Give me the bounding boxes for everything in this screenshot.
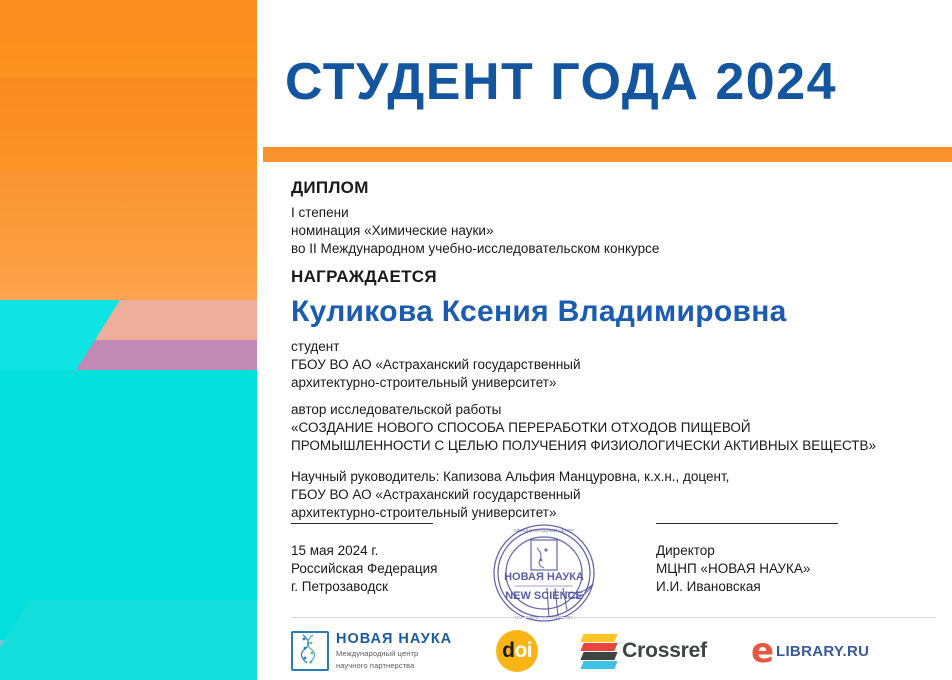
novaya-nauka-name: НОВАЯ НАУКА	[336, 632, 452, 647]
awarded-heading: НАГРАЖДАЕТСЯ	[291, 267, 936, 287]
recipient-institution-line-2: архитектурно-строительный университет»	[291, 374, 936, 392]
work-label: автор исследовательской работы	[291, 401, 936, 419]
novaya-nauka-subtitle-2: научного партнерства	[336, 661, 452, 671]
deco-stripe-orange-3	[0, 158, 263, 170]
recipient-institution-line-1: ГБОУ ВО АО «Астраханский государственный	[291, 356, 936, 374]
deco-slab-cyan-3	[0, 600, 263, 680]
page-title: СТУДЕНТ ГОДА 2024	[285, 52, 837, 112]
stamp-text-en: NEW SCIENCE	[505, 590, 583, 602]
footer-logos: НОВАЯ НАУКА Международный центр научного…	[291, 625, 936, 677]
supervisor-block: Научный руководитель: Капизова Альфия Ма…	[291, 468, 936, 522]
elibrary-name: LIBRARY.RU	[776, 643, 869, 660]
director-organization: МЦНП «НОВАЯ НАУКА»	[656, 560, 896, 578]
stamp-text-ru: НОВАЯ НАУКА	[504, 571, 584, 583]
header-accent-bar	[263, 147, 952, 162]
elibrary-logo: e LIBRARY.RU	[751, 636, 869, 666]
novaya-nauka-logo-text: НОВАЯ НАУКА Международный центр научного…	[336, 632, 452, 670]
director-role: Директор	[656, 542, 896, 560]
supervisor-line-2: ГБОУ ВО АО «Астраханский государственный	[291, 486, 936, 504]
dna-helix-icon	[291, 631, 329, 671]
signature-rule-left	[291, 523, 433, 524]
recipient-name: Куликова Ксения Владимировна	[291, 295, 936, 329]
deco-stripe-orange-2	[0, 78, 263, 158]
crossref-name: Crossref	[622, 639, 707, 663]
svg-text:МЕЖДУНАРОДНЫЙ ЦЕНТР: МЕЖДУНАРОДНЫЙ ЦЕНТР	[514, 526, 574, 533]
signature-rule-right	[656, 523, 838, 524]
doi-label-oi: oi	[514, 639, 532, 663]
deco-stripe-orange-1	[0, 0, 263, 78]
footer-divider	[291, 617, 936, 618]
novaya-nauka-logo: НОВАЯ НАУКА Международный центр научного…	[291, 631, 452, 671]
crossref-bars-icon	[582, 634, 616, 668]
diploma-contest: во II Международном учебно-исследователь…	[291, 240, 936, 258]
supervisor-line-3: архитектурно-строительный университет»	[291, 504, 936, 522]
doi-label-d: d	[502, 639, 514, 663]
crossref-logo: Crossref	[582, 634, 707, 668]
diploma-heading: ДИПЛОМ	[291, 178, 936, 198]
official-seal-stamp: НОВАЯ НАУКА NEW SCIENCE МЕЖДУНАРОДНЫЙ ЦЕ…	[489, 518, 607, 630]
decorative-side-panel	[0, 0, 263, 680]
signature-right-column: Директор МЦНП «НОВАЯ НАУКА» И.И. Ивановс…	[656, 523, 896, 596]
signature-area: 15 мая 2024 г. Российская Федерация г. П…	[291, 523, 936, 608]
elibrary-e-mark: e	[751, 636, 774, 666]
recipient-role: студент	[291, 338, 936, 356]
doi-logo: doi	[496, 630, 538, 672]
director-person: И.И. Ивановская	[656, 578, 896, 596]
novaya-nauka-subtitle-1: Международный центр	[336, 649, 452, 659]
certificate-header: СТУДЕНТ ГОДА 2024	[263, 0, 952, 147]
deco-stripe-orange-5	[0, 245, 263, 293]
diploma-degree: I степени	[291, 204, 936, 222]
work-title-line-2: ПРОМЫШЛЕННОСТИ С ЦЕЛЬЮ ПОЛУЧЕНИЯ ФИЗИОЛО…	[291, 437, 936, 455]
certificate-body: ДИПЛОМ I степени номинация «Химические н…	[291, 178, 936, 522]
diploma-nomination: номинация «Химические науки»	[291, 222, 936, 240]
deco-stripe-orange-4	[0, 170, 263, 245]
work-title-line-1: «СОЗДАНИЕ НОВОГО СПОСОБА ПЕРЕРАБОТКИ ОТХ…	[291, 419, 936, 437]
certificate-page: СТУДЕНТ ГОДА 2024 ДИПЛОМ I степени номин…	[0, 0, 952, 680]
supervisor-line-1: Научный руководитель: Капизова Альфия Ма…	[291, 468, 936, 486]
